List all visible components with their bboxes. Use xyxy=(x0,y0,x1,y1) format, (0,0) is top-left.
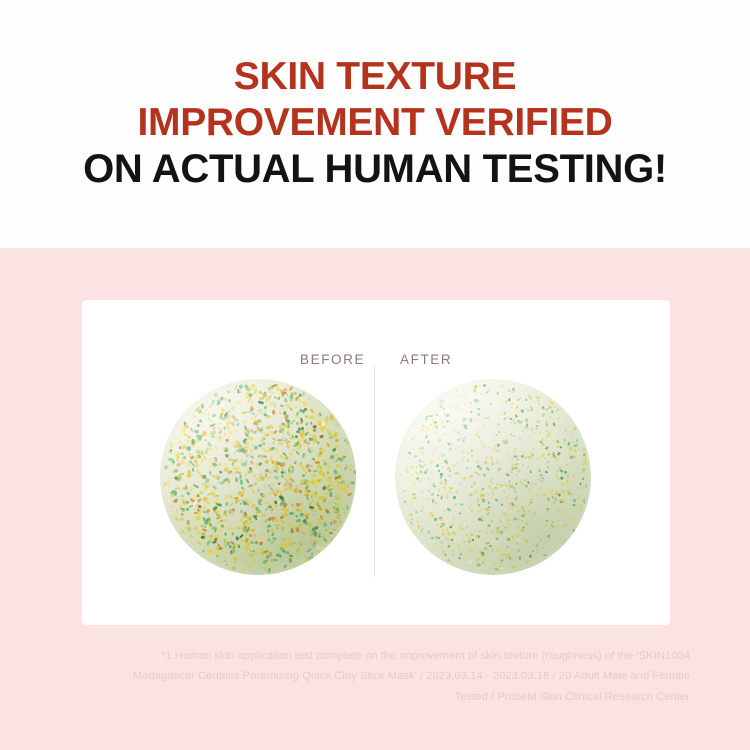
before-sample-speckles xyxy=(160,379,356,575)
before-label: BEFORE xyxy=(300,352,365,367)
before-sample-image xyxy=(160,379,356,575)
headline-band: SKIN TEXTURE IMPROVEMENT VERIFIED ON ACT… xyxy=(0,0,750,248)
card-divider xyxy=(374,365,375,577)
footnote-line-2: Madagascar Centella Poremizing Quick Cla… xyxy=(60,666,690,686)
after-sample-image xyxy=(395,379,591,575)
footnote-line-1: *1 Human skin application test complete … xyxy=(60,646,690,666)
headline-line-1: SKIN TEXTURE xyxy=(83,54,667,100)
after-sample-speckles xyxy=(395,379,591,575)
after-label: AFTER xyxy=(400,352,452,367)
comparison-labels: BEFORE AFTER xyxy=(82,300,670,360)
page-title: SKIN TEXTURE IMPROVEMENT VERIFIED ON ACT… xyxy=(83,54,667,193)
headline-line-2: IMPROVEMENT VERIFIED xyxy=(83,100,667,146)
footnote: *1 Human skin application test complete … xyxy=(60,646,690,707)
footnote-line-3: Tested / ProbeM Skin Clinical Research C… xyxy=(60,687,690,707)
headline-line-3: ON ACTUAL HUMAN TESTING! xyxy=(83,146,667,193)
before-after-card: BEFORE AFTER xyxy=(82,300,670,625)
pink-content-section: BEFORE AFTER *1 Human skin application t… xyxy=(0,248,750,750)
